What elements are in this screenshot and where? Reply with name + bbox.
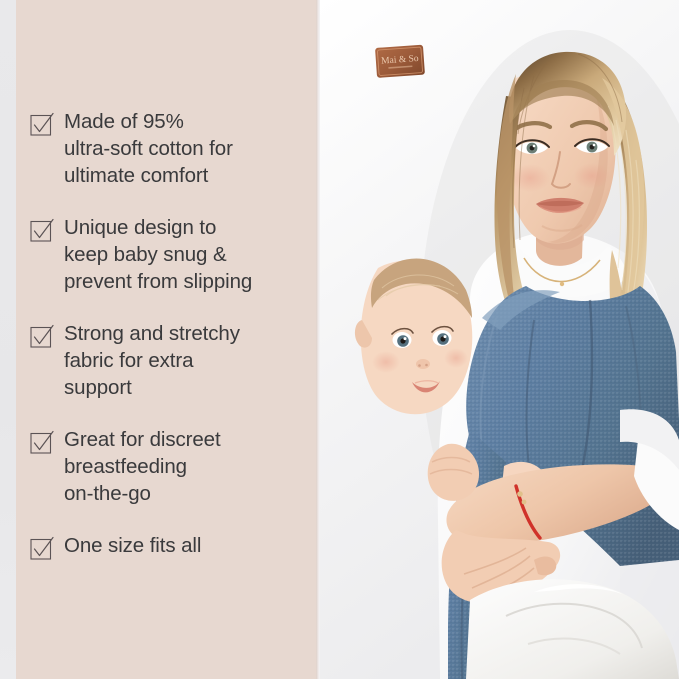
checkbox-checked-icon — [30, 112, 54, 136]
checkbox-checked-icon — [30, 218, 54, 242]
checkbox-checked-icon — [30, 536, 54, 560]
feature-item-fabric: Strong and stretchy fabric for extra sup… — [30, 320, 308, 401]
feature-text: Unique design to keep baby snug & preven… — [64, 214, 252, 295]
feature-text: Made of 95% ultra-soft cotton for ultima… — [64, 108, 233, 189]
left-gutter — [0, 0, 16, 679]
feature-item-cotton: Made of 95% ultra-soft cotton for ultima… — [30, 108, 308, 189]
feature-item-one-size: One size fits all — [30, 532, 308, 560]
feature-text: Great for discreet breastfeeding on-the-… — [64, 426, 221, 507]
feature-list: Made of 95% ultra-soft cotton for ultima… — [30, 108, 308, 560]
product-feature-image: Made of 95% ultra-soft cotton for ultima… — [0, 0, 679, 679]
checkbox-checked-icon — [30, 324, 54, 348]
feature-item-design: Unique design to keep baby snug & preven… — [30, 214, 308, 295]
feature-item-breastfeeding: Great for discreet breastfeeding on-the-… — [30, 426, 308, 507]
checkbox-checked-icon — [30, 430, 54, 454]
feature-text: Strong and stretchy fabric for extra sup… — [64, 320, 240, 401]
feature-text: One size fits all — [64, 532, 201, 559]
product-photo: Smiling blonde mother wearing a white to… — [320, 0, 679, 679]
